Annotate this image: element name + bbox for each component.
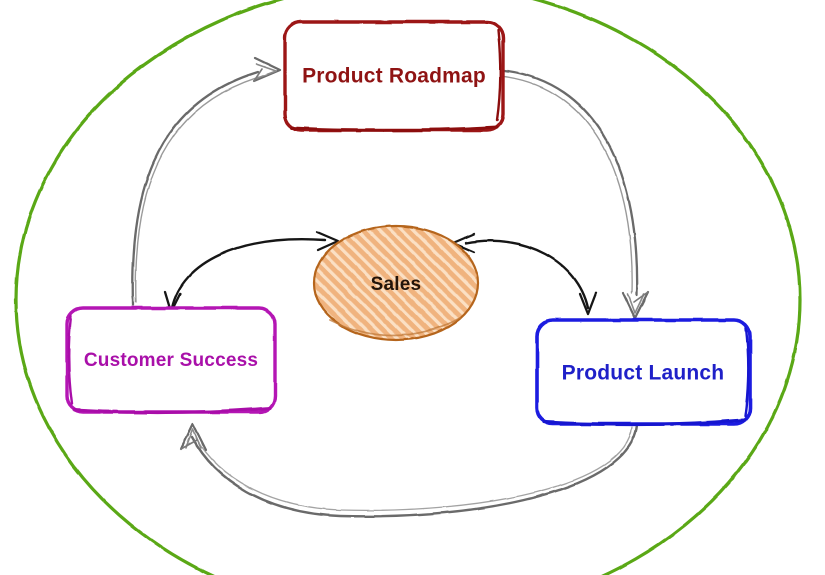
connector-product-launch-to-customer-success: [181, 424, 637, 516]
product-launch-label: Product Launch: [562, 362, 725, 385]
node-sales[interactable]: Sales: [314, 226, 478, 340]
product-lifecycle-diagram: Product Roadmap Customer Success Product…: [0, 0, 825, 575]
customer-success-label: Customer Success: [84, 350, 258, 371]
sales-label: Sales: [371, 274, 422, 295]
node-customer-success[interactable]: Customer Success: [67, 308, 275, 413]
node-product-launch[interactable]: Product Launch: [537, 320, 750, 425]
connector-customer-success-to-product-roadmap: [133, 58, 280, 305]
connector-customer-success-to-sales: [165, 232, 338, 312]
product-roadmap-label: Product Roadmap: [302, 65, 486, 88]
node-product-roadmap[interactable]: Product Roadmap: [285, 22, 503, 130]
diagram-canvas: Product Roadmap Customer Success Product…: [0, 0, 825, 575]
connector-product-roadmap-to-product-launch: [500, 70, 648, 318]
